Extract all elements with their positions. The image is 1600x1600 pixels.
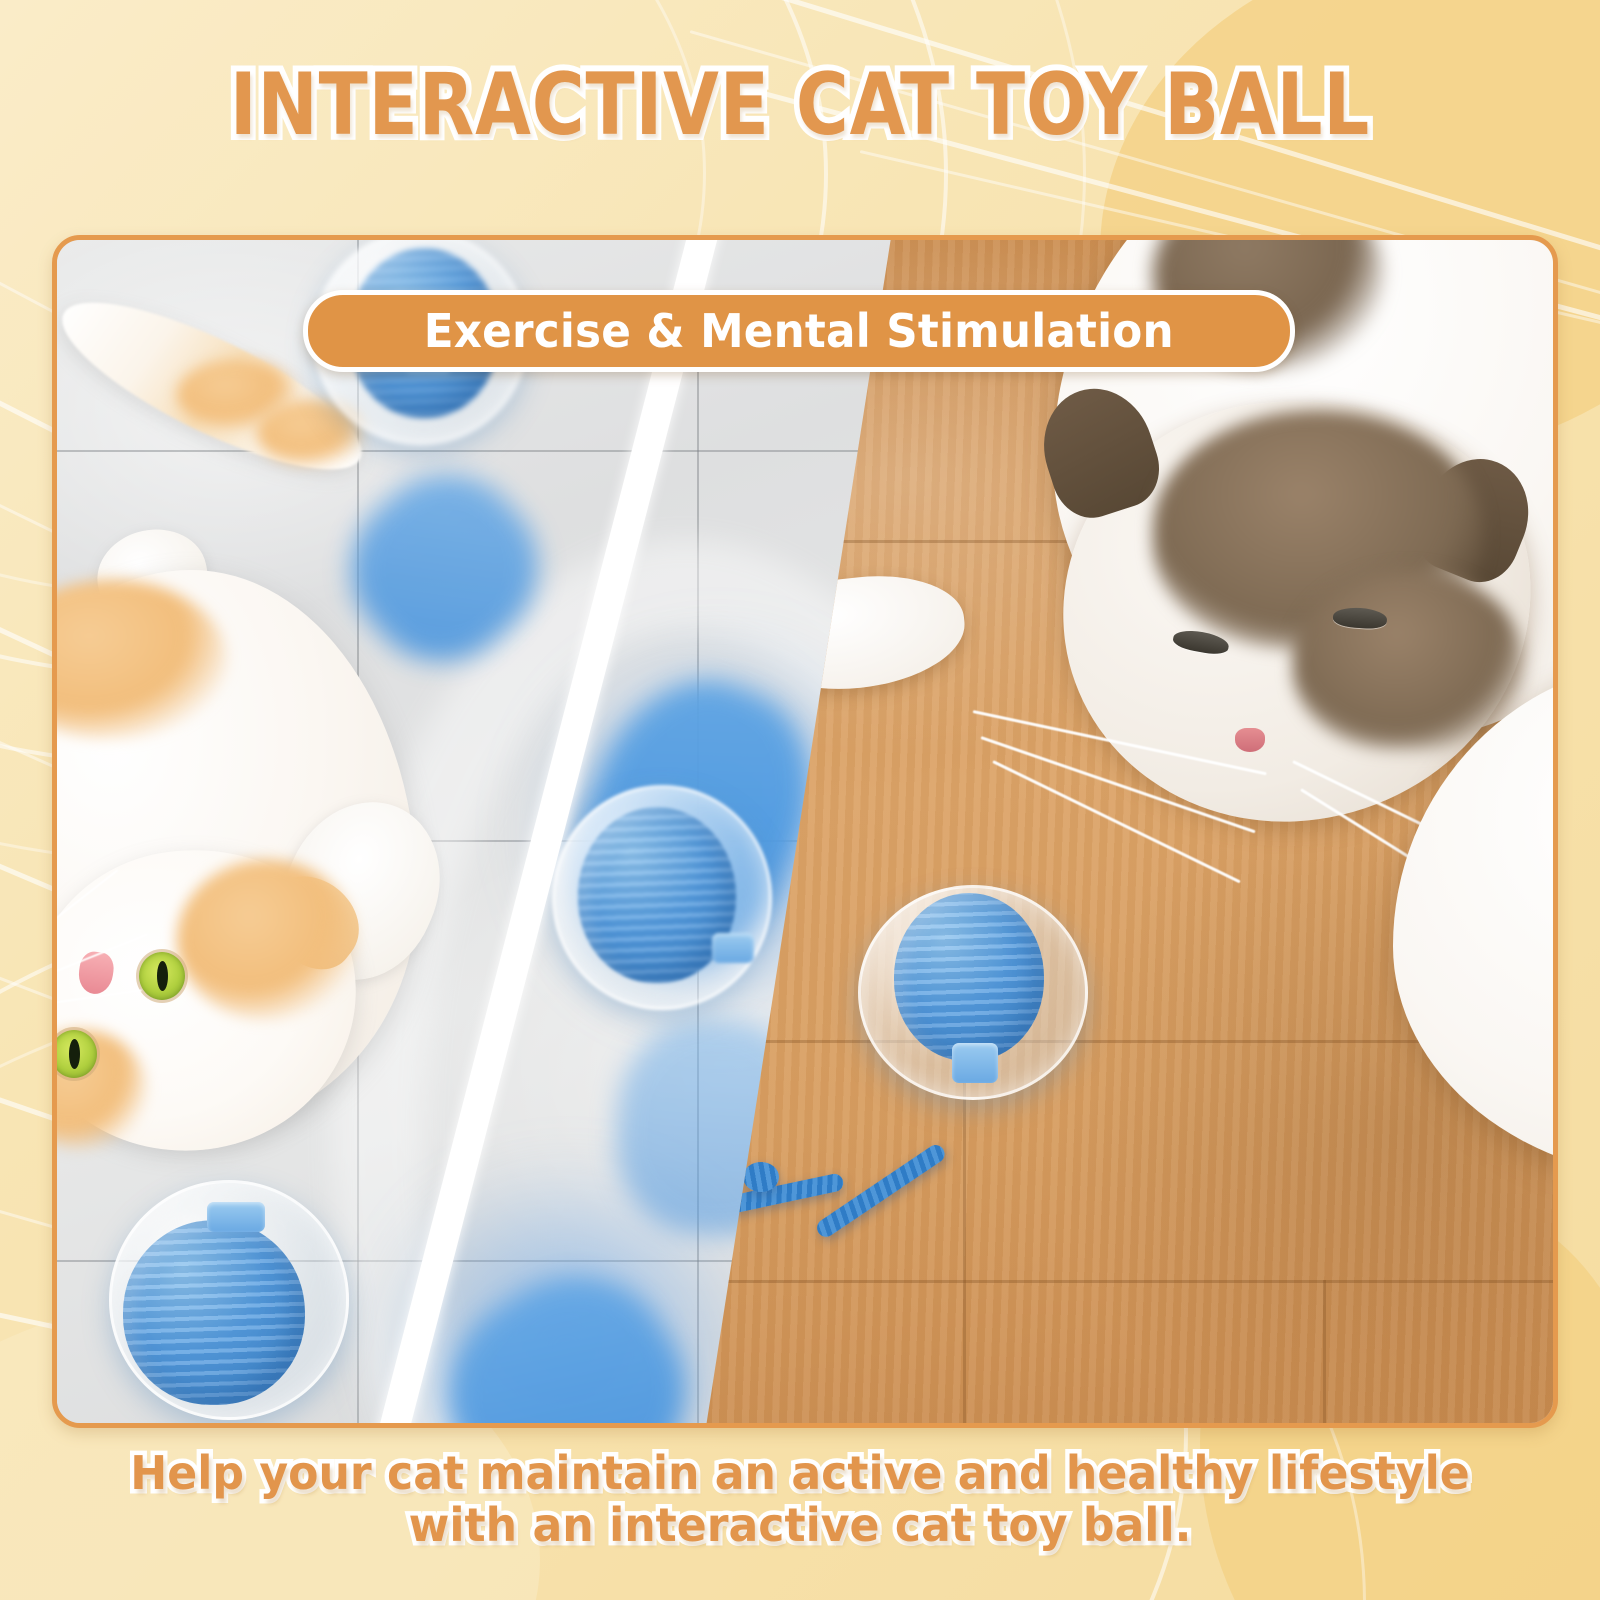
page-caption: Help your cat maintain an active and hea… [90, 1448, 1511, 1551]
cat-nose [1235, 728, 1265, 752]
cat-face-marking [1293, 570, 1523, 750]
toy-ball [858, 885, 1088, 1100]
feature-badge: Exercise & Mental Stimulation [303, 290, 1295, 372]
promo-canvas: INTERACTIVE CAT TOY BALL [0, 0, 1600, 1600]
rope-knot [743, 1162, 779, 1192]
page-title: INTERACTIVE CAT TOY BALL [56, 62, 1544, 148]
toy-ball [552, 785, 772, 1010]
cat-face-marking [177, 860, 357, 1020]
toy-ball [109, 1180, 349, 1420]
photo-panel [52, 235, 1558, 1428]
feature-badge-label: Exercise & Mental Stimulation [424, 304, 1174, 358]
cat-eye [139, 952, 185, 1000]
